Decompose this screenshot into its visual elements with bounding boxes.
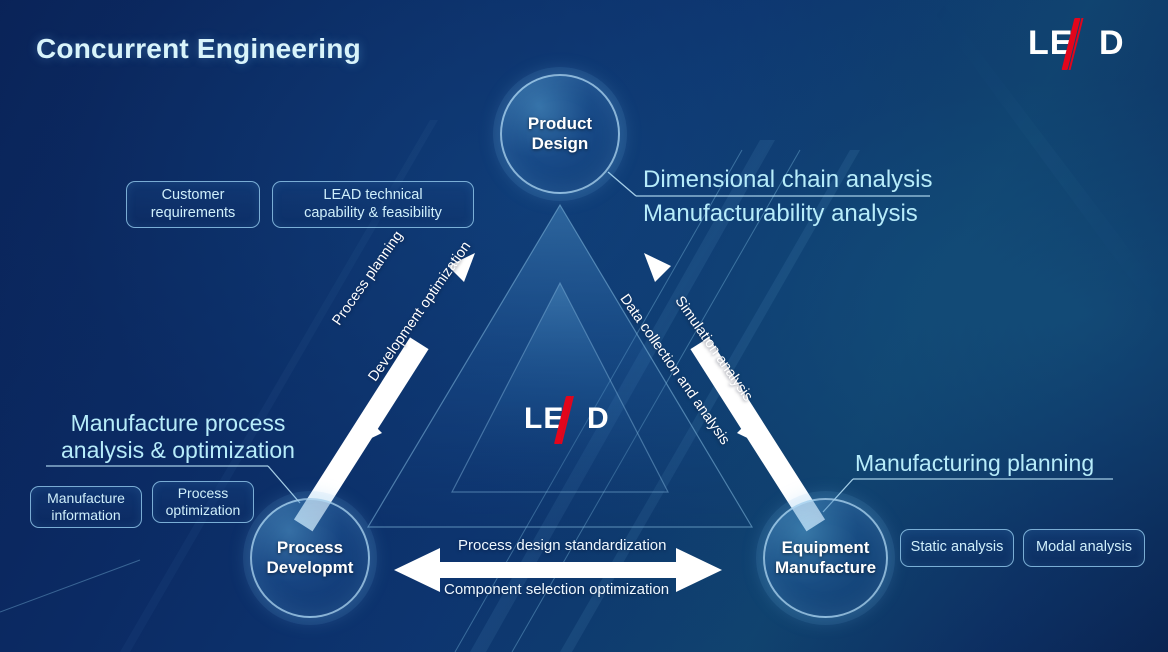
chip-process-optimization[interactable]: Process optimization <box>152 481 254 523</box>
leader-line-equipment <box>823 479 1113 512</box>
chip-process-optimization-line2: optimization <box>166 502 241 519</box>
chip-static-analysis[interactable]: Static analysis <box>900 529 1014 567</box>
lead-logo-center: LEAD <box>524 404 610 434</box>
node-process-developmt-line1: Process <box>267 538 354 558</box>
callout-manufacture-process-analysis: Manufacture process analysis & optimizat… <box>52 410 304 464</box>
callout-manufacturing-planning: Manufacturing planning <box>855 450 1094 477</box>
chip-modal-analysis[interactable]: Modal analysis <box>1023 529 1145 567</box>
node-process-developmt[interactable]: Process Developmt <box>250 498 370 618</box>
lead-logo-header: LEAD <box>1028 26 1125 60</box>
chip-lead-technical-capability-line2: capability & feasibility <box>304 205 442 223</box>
node-product-design-line2: Design <box>528 134 592 154</box>
node-product-design[interactable]: Product Design <box>500 74 620 194</box>
chip-customer-requirements[interactable]: Customer requirements <box>126 181 260 228</box>
arrow-label-process-design-standardization: Process design standardization <box>458 537 666 554</box>
chip-lead-technical-capability-line1: LEAD technical <box>304 187 442 205</box>
node-product-design-line1: Product <box>528 114 592 134</box>
logo-wordmark-right: D <box>1099 24 1125 62</box>
callout-manufacturability-analysis: Manufacturability analysis <box>643 200 918 228</box>
node-process-developmt-line2: Developmt <box>267 558 354 578</box>
chip-manufacture-information-line1: Manufacture <box>47 490 125 507</box>
slide-canvas: Concurrent Engineering LEAD LEAD Product… <box>0 0 1168 652</box>
chip-lead-technical-capability[interactable]: LEAD technical capability & feasibility <box>272 181 474 228</box>
chip-customer-requirements-line1: Customer <box>151 187 236 205</box>
chip-manufacture-information-line2: information <box>47 507 125 524</box>
chip-manufacture-information[interactable]: Manufacture information <box>30 486 142 528</box>
chip-process-optimization-line1: Process <box>166 485 241 502</box>
node-equipment-manufacture-line2: Manufacture <box>775 558 876 578</box>
logo-center-wordmark-right: D <box>587 402 610 435</box>
page-title: Concurrent Engineering <box>36 33 361 65</box>
chip-customer-requirements-line2: requirements <box>151 205 236 223</box>
arrow-label-component-selection-optimization: Component selection optimization <box>444 581 669 598</box>
callout-dimensional-chain-analysis: Dimensional chain analysis <box>643 166 932 194</box>
node-equipment-manufacture[interactable]: Equipment Manufacture <box>763 498 888 618</box>
node-equipment-manufacture-line1: Equipment <box>775 538 876 558</box>
